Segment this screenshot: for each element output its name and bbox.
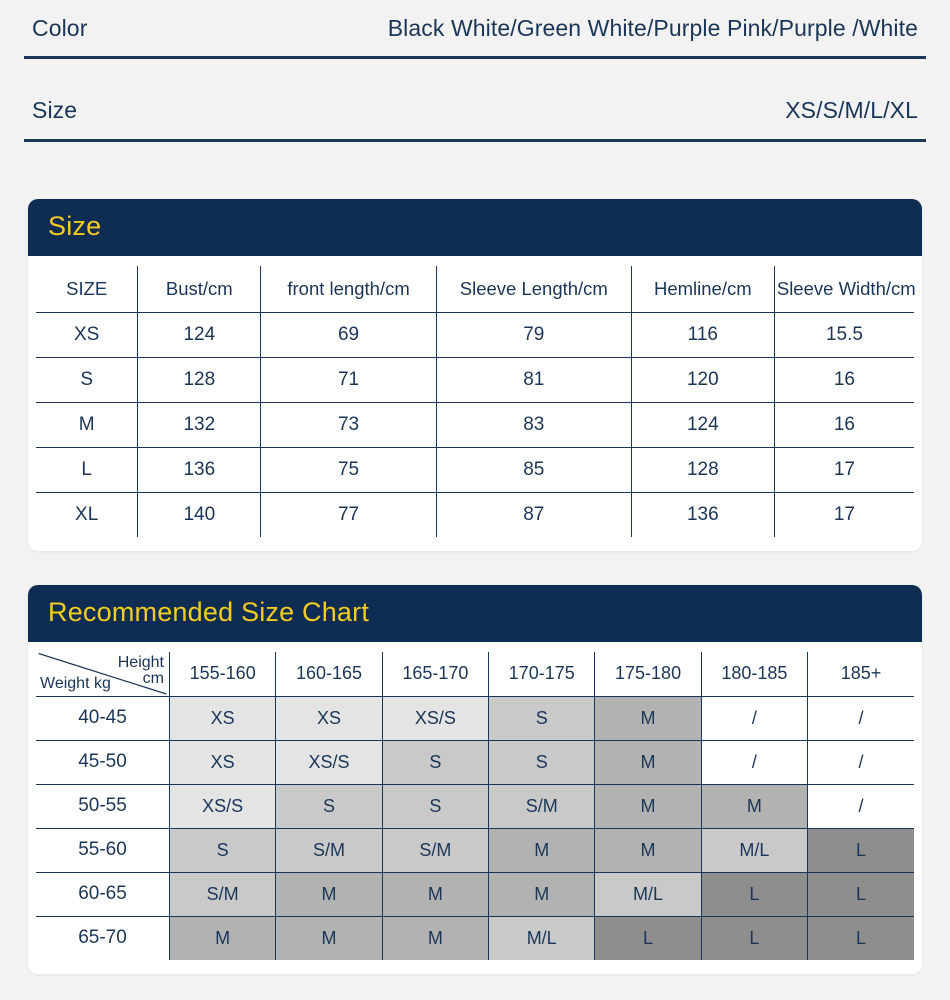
size-spec-cell: 124 bbox=[138, 313, 261, 358]
size-spec-header-row: SIZEBust/cmfront length/cmSleeve Length/… bbox=[36, 266, 914, 313]
size-spec-col-header: Sleeve Width/cm bbox=[774, 266, 914, 313]
recommended-size-cell: M bbox=[382, 916, 488, 960]
recommended-size-cell: S bbox=[276, 784, 382, 828]
table-row: 60-65S/MMMMM/LLL bbox=[36, 872, 914, 916]
size-spec-col-header: SIZE bbox=[36, 266, 138, 313]
recommended-size-cell: / bbox=[808, 740, 914, 784]
size-chart-page: Color Black White/Green White/Purple Pin… bbox=[0, 0, 950, 1000]
recommended-header-row: Height cm Weight kg 155-160160-165165-17… bbox=[36, 652, 914, 696]
recommended-size-cell: / bbox=[701, 740, 807, 784]
recommended-size-cell: M bbox=[489, 872, 595, 916]
recommended-size-body: 40-45XSXSXS/SSM//45-50XSXS/SSSM//50-55XS… bbox=[36, 696, 914, 960]
recommended-size-cell: S/M bbox=[276, 828, 382, 872]
recommended-size-cell: M bbox=[595, 784, 701, 828]
height-column-header: 180-185 bbox=[701, 652, 807, 696]
recommended-size-cell: L bbox=[808, 916, 914, 960]
recommended-size-cell: S/M bbox=[489, 784, 595, 828]
recommended-size-cell: L bbox=[595, 916, 701, 960]
recommended-size-cell: / bbox=[808, 784, 914, 828]
size-spec-cell: 81 bbox=[436, 358, 631, 403]
recommended-size-cell: M bbox=[595, 740, 701, 784]
recommended-size-cell: / bbox=[701, 696, 807, 740]
recommended-size-cell: M/L bbox=[701, 828, 807, 872]
table-row: M132738312416 bbox=[36, 403, 914, 448]
recommended-size-cell: S/M bbox=[170, 872, 276, 916]
size-spec-cell: 120 bbox=[631, 358, 774, 403]
size-spec-row-label: M bbox=[36, 403, 138, 448]
recommended-size-table: Height cm Weight kg 155-160160-165165-17… bbox=[36, 652, 914, 960]
height-column-header: 160-165 bbox=[276, 652, 382, 696]
recommended-size-cell: XS bbox=[276, 696, 382, 740]
weight-row-header: 65-70 bbox=[36, 916, 170, 960]
recommended-size-cell: S/M bbox=[382, 828, 488, 872]
size-spec-cell: 128 bbox=[631, 448, 774, 493]
size-spec-body: XS124697911615.5S128718112016M1327383124… bbox=[36, 313, 914, 538]
recommended-size-cell: S bbox=[382, 740, 488, 784]
size-spec-cell: 77 bbox=[261, 493, 437, 538]
table-row: 40-45XSXSXS/SSM// bbox=[36, 696, 914, 740]
size-spec-panel-header: Size bbox=[28, 199, 922, 256]
table-row: S128718112016 bbox=[36, 358, 914, 403]
recommended-size-cell: XS/S bbox=[170, 784, 276, 828]
height-column-header: 185+ bbox=[808, 652, 914, 696]
recommended-size-cell: S bbox=[489, 740, 595, 784]
recommended-size-cell: L bbox=[808, 872, 914, 916]
recommended-size-cell: S bbox=[489, 696, 595, 740]
size-spec-cell: 136 bbox=[138, 448, 261, 493]
size-spec-panel-body: SIZEBust/cmfront length/cmSleeve Length/… bbox=[28, 256, 922, 551]
size-spec-row-label: XS bbox=[36, 313, 138, 358]
weight-row-header: 40-45 bbox=[36, 696, 170, 740]
recommended-size-cell: S bbox=[382, 784, 488, 828]
recommended-size-cell: L bbox=[701, 916, 807, 960]
table-row: L136758512817 bbox=[36, 448, 914, 493]
size-spec-cell: 71 bbox=[261, 358, 437, 403]
recommended-size-cell: M/L bbox=[489, 916, 595, 960]
axis-label-weight: Weight kg bbox=[40, 676, 111, 692]
recommended-size-cell: M bbox=[701, 784, 807, 828]
size-spec-panel: Size SIZEBust/cmfront length/cmSleeve Le… bbox=[28, 199, 922, 551]
recommended-size-cell: L bbox=[808, 828, 914, 872]
recommended-size-cell: M bbox=[595, 696, 701, 740]
attribute-value-color: Black White/Green White/Purple Pink/Purp… bbox=[388, 15, 918, 42]
recommended-size-cell: M/L bbox=[595, 872, 701, 916]
size-spec-table: SIZEBust/cmfront length/cmSleeve Length/… bbox=[36, 266, 914, 537]
size-spec-cell: 116 bbox=[631, 313, 774, 358]
recommended-size-cell: M bbox=[595, 828, 701, 872]
size-spec-cell: 136 bbox=[631, 493, 774, 538]
table-row: XL140778713617 bbox=[36, 493, 914, 538]
size-spec-cell: 17 bbox=[774, 493, 914, 538]
table-row: 45-50XSXS/SSSM// bbox=[36, 740, 914, 784]
recommended-size-cell: M bbox=[170, 916, 276, 960]
weight-row-header: 45-50 bbox=[36, 740, 170, 784]
size-spec-cell: 128 bbox=[138, 358, 261, 403]
size-spec-col-header: Bust/cm bbox=[138, 266, 261, 313]
recommended-size-cell: XS bbox=[170, 696, 276, 740]
recommended-size-cell: M bbox=[489, 828, 595, 872]
size-spec-cell: 15.5 bbox=[774, 313, 914, 358]
recommended-size-panel-body: Height cm Weight kg 155-160160-165165-17… bbox=[28, 642, 922, 974]
size-spec-cell: 85 bbox=[436, 448, 631, 493]
height-column-header: 170-175 bbox=[489, 652, 595, 696]
attribute-row-size: Size XS/S/M/L/XL bbox=[24, 81, 926, 139]
attribute-value-size: XS/S/M/L/XL bbox=[785, 97, 918, 124]
axis-label-height-text: Height bbox=[118, 654, 164, 671]
recommended-size-panel: Recommended Size Chart Height bbox=[28, 585, 922, 974]
product-attributes: Color Black White/Green White/Purple Pin… bbox=[0, 0, 950, 142]
size-spec-col-header: Sleeve Length/cm bbox=[436, 266, 631, 313]
height-column-header: 175-180 bbox=[595, 652, 701, 696]
recommended-size-cell: XS bbox=[170, 740, 276, 784]
size-spec-cell: 73 bbox=[261, 403, 437, 448]
size-spec-cell: 16 bbox=[774, 358, 914, 403]
size-spec-panel-title: Size bbox=[48, 211, 101, 241]
size-spec-row-label: S bbox=[36, 358, 138, 403]
recommended-size-cell: M bbox=[276, 916, 382, 960]
weight-row-header: 50-55 bbox=[36, 784, 170, 828]
recommended-size-panel-title: Recommended Size Chart bbox=[48, 597, 369, 627]
size-spec-cell: 140 bbox=[138, 493, 261, 538]
table-row: 50-55XS/SSSS/MMM/ bbox=[36, 784, 914, 828]
attribute-label-size: Size bbox=[32, 97, 77, 124]
recommended-size-cell: XS/S bbox=[382, 696, 488, 740]
height-column-header: 155-160 bbox=[170, 652, 276, 696]
recommended-size-cell: / bbox=[808, 696, 914, 740]
recommended-size-cell: XS/S bbox=[276, 740, 382, 784]
recommended-size-panel-header: Recommended Size Chart bbox=[28, 585, 922, 642]
table-row: 55-60SS/MS/MMMM/LL bbox=[36, 828, 914, 872]
axis-corner-cell: Height cm Weight kg bbox=[36, 652, 170, 696]
table-row: 65-70MMMM/LLLL bbox=[36, 916, 914, 960]
recommended-size-cell: M bbox=[276, 872, 382, 916]
size-spec-cell: 124 bbox=[631, 403, 774, 448]
size-spec-row-label: XL bbox=[36, 493, 138, 538]
recommended-size-cell: S bbox=[170, 828, 276, 872]
attribute-row-color: Color Black White/Green White/Purple Pin… bbox=[24, 0, 926, 56]
table-row: XS124697911615.5 bbox=[36, 313, 914, 358]
size-spec-cell: 75 bbox=[261, 448, 437, 493]
size-spec-cell: 17 bbox=[774, 448, 914, 493]
size-spec-col-header: Hemline/cm bbox=[631, 266, 774, 313]
size-spec-row-label: L bbox=[36, 448, 138, 493]
recommended-size-cell: M bbox=[382, 872, 488, 916]
size-spec-col-header: front length/cm bbox=[261, 266, 437, 313]
size-spec-cell: 132 bbox=[138, 403, 261, 448]
axis-label-height: Height cm bbox=[118, 655, 164, 687]
weight-row-header: 55-60 bbox=[36, 828, 170, 872]
size-spec-cell: 83 bbox=[436, 403, 631, 448]
recommended-size-cell: L bbox=[701, 872, 807, 916]
size-spec-cell: 69 bbox=[261, 313, 437, 358]
weight-row-header: 60-65 bbox=[36, 872, 170, 916]
height-column-header: 165-170 bbox=[382, 652, 488, 696]
axis-label-height-unit: cm bbox=[118, 671, 164, 687]
size-spec-cell: 79 bbox=[436, 313, 631, 358]
size-spec-cell: 87 bbox=[436, 493, 631, 538]
attribute-label-color: Color bbox=[32, 15, 87, 42]
size-spec-cell: 16 bbox=[774, 403, 914, 448]
